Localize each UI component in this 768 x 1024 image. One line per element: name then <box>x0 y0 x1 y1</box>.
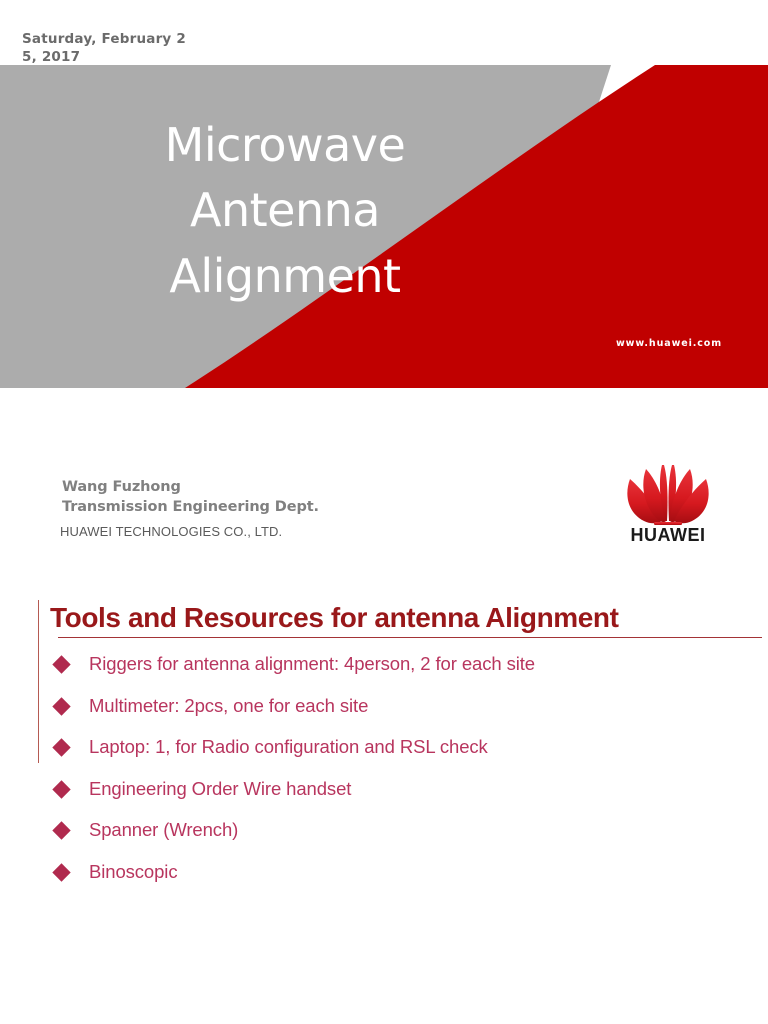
presenter-block: Wang Fuzhong Transmission Engineering De… <box>62 477 392 517</box>
slide-title-line-3: Alignment <box>60 244 510 309</box>
list-item-label: Binoscopic <box>89 861 177 882</box>
slide-title-line-1: Microwave <box>60 113 510 178</box>
heading-horizontal-rule <box>58 637 762 638</box>
list-item: Laptop: 1, for Radio configuration and R… <box>55 736 755 778</box>
date-stamp: Saturday, February 25, 2017 <box>22 30 190 66</box>
bullet-list: Riggers for antenna alignment: 4person, … <box>55 653 755 902</box>
diamond-bullet-icon <box>52 738 70 756</box>
diamond-bullet-icon <box>52 821 70 839</box>
huawei-logo: HUAWEI <box>622 463 714 543</box>
list-item-label: Engineering Order Wire handset <box>89 778 351 799</box>
huawei-flower-icon <box>627 465 708 526</box>
diamond-bullet-icon <box>52 655 70 673</box>
list-item: Multimeter: 2pcs, one for each site <box>55 695 755 737</box>
diamond-bullet-icon <box>52 697 70 715</box>
website-url: www.huawei.com <box>616 338 722 349</box>
heading-vertical-rule <box>38 600 39 763</box>
huawei-wordmark: HUAWEI <box>631 525 706 543</box>
list-item-label: Laptop: 1, for Radio configuration and R… <box>89 736 488 757</box>
list-item-label: Spanner (Wrench) <box>89 819 238 840</box>
slide-title-line-2: Antenna <box>60 178 510 243</box>
section-heading: Tools and Resources for antenna Alignmen… <box>38 600 744 635</box>
diamond-bullet-icon <box>52 863 70 881</box>
huawei-logo-svg: HUAWEI <box>622 463 714 543</box>
list-item-label: Riggers for antenna alignment: 4person, … <box>89 653 535 674</box>
list-item: Binoscopic <box>55 861 755 903</box>
section-heading-block: Tools and Resources for antenna Alignmen… <box>38 600 744 635</box>
list-item: Spanner (Wrench) <box>55 819 755 861</box>
diamond-bullet-icon <box>52 780 70 798</box>
slide-title: Microwave Antenna Alignment <box>60 113 510 309</box>
list-item: Riggers for antenna alignment: 4person, … <box>55 653 755 695</box>
list-item: Engineering Order Wire handset <box>55 778 755 820</box>
list-item-label: Multimeter: 2pcs, one for each site <box>89 695 368 716</box>
presenter-name: Wang Fuzhong <box>62 477 392 497</box>
presenter-department: Transmission Engineering Dept. <box>62 497 392 517</box>
company-name: HUAWEI TECHNOLOGIES CO., LTD. <box>60 524 282 539</box>
